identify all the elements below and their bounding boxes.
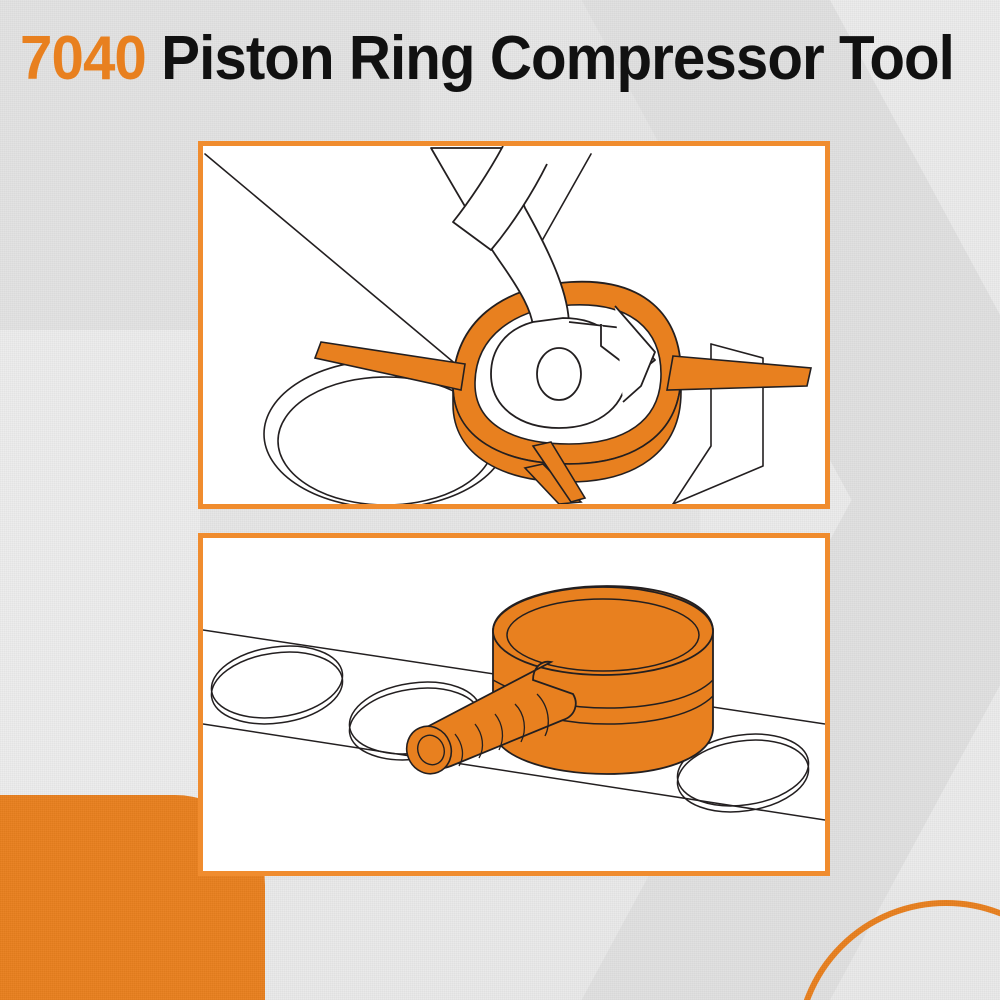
product-illustration — [203, 538, 825, 871]
product-graphic-page: 7040 Piston Ring Compressor Tool — [0, 0, 1000, 1000]
compressor-top-rim — [493, 587, 713, 675]
piston-pin-bore — [537, 348, 581, 400]
panel-image-product — [198, 533, 830, 876]
page-title-name: Piston Ring Compressor Tool — [161, 24, 954, 93]
handle-right — [667, 356, 811, 390]
page-title-sku: 7040 — [20, 24, 146, 93]
installation-illustration — [203, 146, 825, 504]
background-tone-block-mid-left — [0, 330, 200, 800]
panel-image-installation — [198, 141, 830, 509]
page-title: 7040 Piston Ring Compressor Tool — [20, 28, 954, 90]
